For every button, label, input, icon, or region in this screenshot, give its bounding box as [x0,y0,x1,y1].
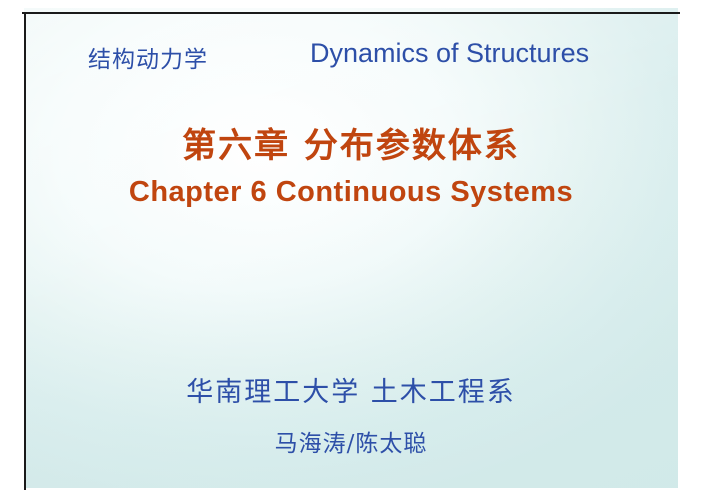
slide-background [24,8,678,488]
top-divider-line [22,12,680,14]
presentation-slide: 结构动力学 Dynamics of Structures 第六章 分布参数体系 … [0,0,702,496]
author-names: 马海涛/陈太聪 [0,424,702,458]
course-title-english: Dynamics of Structures [310,38,589,69]
slide-header: 结构动力学 Dynamics of Structures [0,40,702,80]
left-divider-line [24,12,26,490]
course-title-chinese: 结构动力学 [88,40,208,74]
chapter-title-chinese: 第六章 分布参数体系 [0,118,702,167]
chapter-title-english: Chapter 6 Continuous Systems [0,176,702,209]
organization-name: 华南理工大学 土木工程系 [0,370,702,409]
